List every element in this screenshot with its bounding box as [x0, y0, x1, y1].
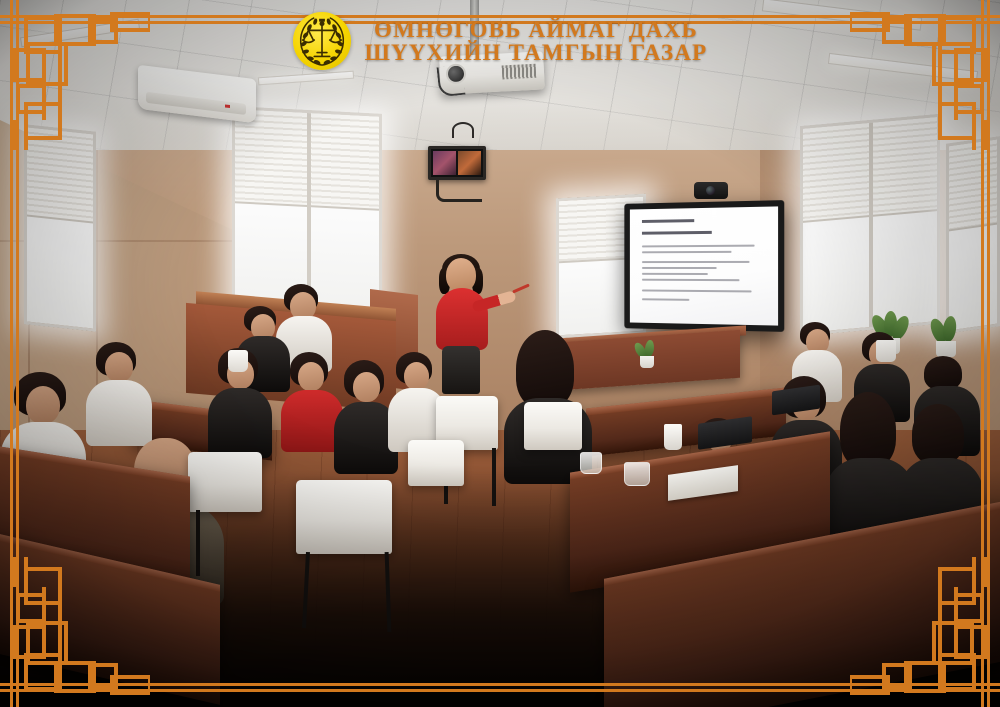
slide-text-line [642, 279, 739, 281]
ornament-corner-top-right [850, 0, 1000, 150]
coffee-cup [664, 424, 682, 450]
coffee-cup [876, 340, 896, 362]
monitor-feed-left [433, 151, 456, 175]
chair-cover [524, 402, 582, 450]
presenter-head [446, 258, 476, 292]
slide-text-line [642, 289, 752, 292]
ac-indicator-light [225, 104, 230, 108]
projector-vents [502, 64, 537, 80]
ac-vent [146, 92, 246, 115]
monitor-bracket [436, 180, 482, 202]
small-wall-monitor [428, 146, 486, 180]
coffee-cup [228, 350, 248, 372]
conference-camera [694, 182, 728, 199]
ornament-corner-top-left [0, 0, 150, 150]
slide-heading [642, 219, 695, 223]
chair-cover [408, 440, 464, 486]
presenter-legs [442, 346, 480, 394]
slide-text-line [642, 245, 755, 248]
presenter-red-top [436, 288, 488, 350]
slide-text-line [642, 298, 690, 301]
chair-cover [296, 480, 392, 554]
ornament-corner-bottom-left [0, 557, 150, 707]
ornament-corner-bottom-right [850, 557, 1000, 707]
window-mullion [869, 123, 873, 327]
slide-text-line [642, 251, 732, 253]
slide-text-line [642, 261, 750, 263]
window [946, 136, 1000, 334]
display-slide [630, 206, 778, 325]
water-glass [580, 452, 602, 474]
water-glass [624, 462, 650, 486]
presenter [424, 258, 496, 390]
monitor-mount-arm [452, 122, 474, 138]
chair-cover [188, 452, 262, 512]
wall-display [624, 200, 784, 332]
slide-text-line [642, 273, 708, 275]
monitor-feed-right [458, 151, 481, 175]
window [24, 124, 96, 332]
projector-mount-pole [470, 0, 479, 56]
slide-subheading [642, 231, 712, 235]
slide-text-line [642, 267, 717, 269]
photo-frame: ӨМНӨГОВЬ АЙМАГ ДАХЬ ШҮҮХИЙН ТАМГЫН ГАЗАР [0, 0, 1000, 707]
